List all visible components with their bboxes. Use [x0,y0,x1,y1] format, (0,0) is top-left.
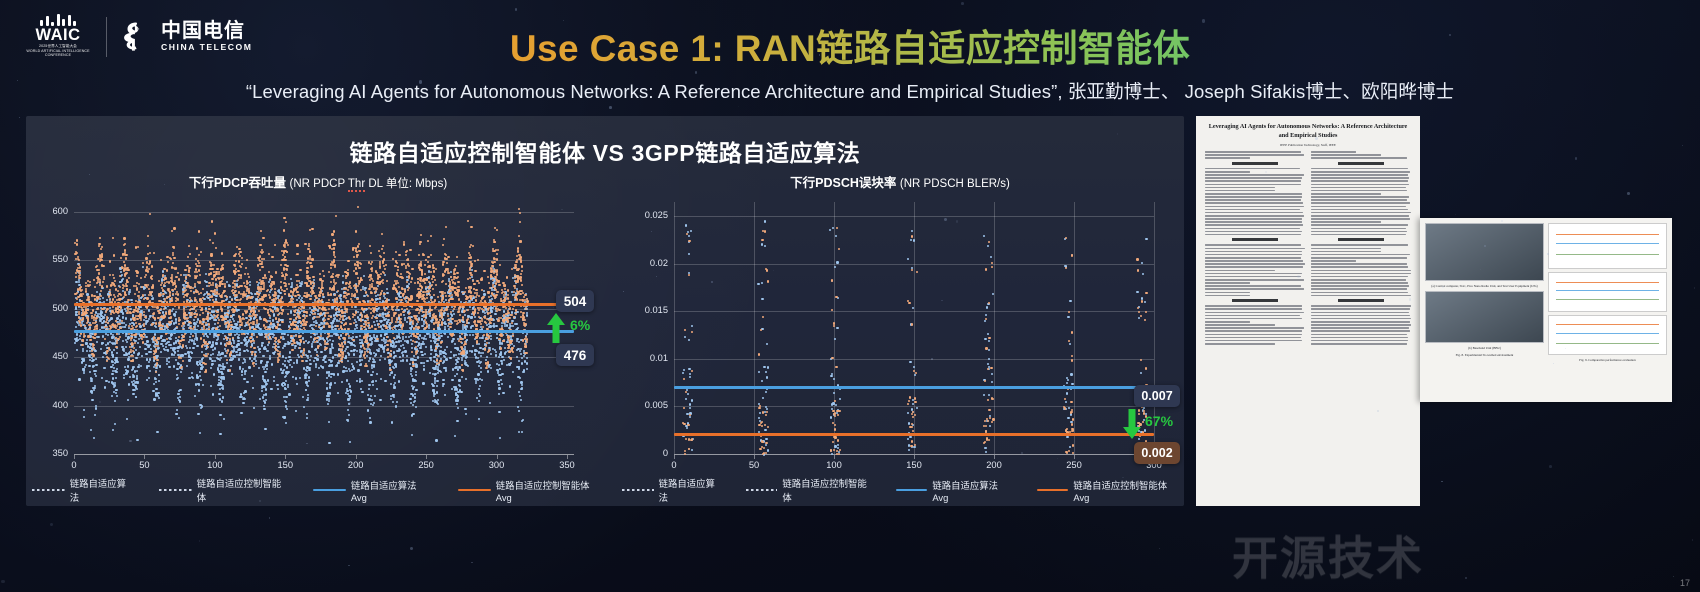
data-point [410,370,412,372]
data-point [306,413,308,415]
data-point [219,433,221,435]
data-point [428,327,430,329]
data-point [285,422,287,424]
data-point [357,311,359,313]
data-point [355,267,357,269]
data-point [296,299,298,301]
data-point [249,284,251,286]
data-point [296,383,298,385]
data-point [158,380,160,382]
data-point [310,355,312,357]
data-point [324,361,326,363]
data-point [475,299,477,301]
data-point [183,325,185,327]
data-point [199,314,201,316]
data-point [411,343,413,345]
data-point [96,341,98,343]
data-point [335,333,337,335]
data-point [199,404,201,406]
data-point [149,359,151,361]
data-point [452,368,454,370]
data-point [138,283,140,285]
data-point [308,376,310,378]
data-point [458,379,460,381]
data-point [193,313,195,315]
data-point [114,382,116,384]
data-point [282,355,284,357]
data-point [284,360,286,362]
data-point [434,382,436,384]
data-point [393,356,395,358]
data-point [329,350,331,352]
data-point [115,337,117,339]
data-point [184,280,186,282]
data-point [226,281,228,283]
data-point [263,394,265,396]
data-point [447,315,449,317]
data-point [234,265,236,267]
data-point [114,296,116,298]
data-point [304,243,306,245]
data-point [368,348,370,350]
data-point [363,326,365,328]
data-point [90,429,92,431]
data-point [413,355,415,357]
left-chart-heading-cn: 下行PDCP吞吐量 [189,176,286,190]
data-point [440,346,442,348]
data-point [483,334,485,336]
data-point [286,288,288,290]
data-point [221,400,223,402]
data-point [354,306,356,308]
data-point [394,363,396,365]
data-point [196,321,198,323]
data-point [277,343,279,345]
data-point [374,395,376,397]
data-point [520,279,522,281]
data-point [100,348,102,350]
data-point [369,417,371,419]
data-point [403,243,405,245]
data-point [361,391,363,393]
data-point [222,319,224,321]
data-point [334,294,336,296]
data-point [360,388,362,390]
data-point [320,288,322,290]
y-axis-tick-label: 600 [28,206,68,216]
data-point [286,408,288,410]
data-point [123,237,125,239]
data-point [134,293,136,295]
data-point [171,310,173,312]
data-point [488,296,490,298]
data-point [464,408,466,410]
data-point [270,388,272,390]
data-point [477,373,479,375]
data-point [135,349,137,351]
data-point [168,357,170,359]
data-point [445,353,447,355]
data-point [348,335,350,337]
data-point [302,337,304,339]
data-point [94,414,96,416]
data-point [253,334,255,336]
data-point [244,361,246,363]
data-point [105,311,107,313]
data-point [328,299,330,301]
data-point [395,251,397,253]
data-point [240,274,242,276]
data-point [359,359,361,361]
data-point [420,234,422,236]
data-point [333,230,335,232]
data-point [224,285,226,287]
data-point [470,316,472,318]
data-point [123,377,125,379]
data-point [296,359,298,361]
data-point [459,338,461,340]
data-point [444,394,446,396]
data-point [386,288,388,290]
data-point [436,385,438,387]
data-point [294,345,296,347]
data-point [281,275,283,277]
data-point [400,299,402,301]
data-point [268,253,270,255]
data-point [447,336,449,338]
data-point [171,299,173,301]
x-axis-tick [356,455,357,459]
data-point [130,351,132,353]
data-point [263,408,265,410]
data-point [521,387,523,389]
data-point [415,374,417,376]
data-point [503,359,505,361]
data-point [258,327,260,329]
data-point [520,273,522,275]
data-point [283,345,285,347]
data-point [217,384,219,386]
data-point [522,339,524,341]
data-point [115,377,117,379]
data-point [235,323,237,325]
data-point [414,396,416,398]
x-axis-tick [567,455,568,459]
data-point [501,373,503,375]
data-point [240,277,242,279]
data-point [432,384,434,386]
data-point [516,349,518,351]
data-point [220,353,222,355]
data-point [403,314,405,316]
data-point [218,319,220,321]
data-point [276,384,278,386]
data-point [177,350,179,352]
data-point [89,359,91,361]
data-point [91,392,93,394]
data-point [144,294,146,296]
data-point [128,277,130,279]
data-point [437,366,439,368]
data-point [412,394,414,396]
data-point [222,397,224,399]
data-point [83,409,85,411]
data-point [189,359,191,361]
data-point [355,336,357,338]
data-point [153,398,155,400]
data-point [351,369,353,371]
data-point [261,344,263,346]
data-point [408,283,410,285]
data-point [411,375,413,377]
data-point [177,377,179,379]
data-point [433,356,435,358]
data-point [158,294,160,296]
data-point [416,318,418,320]
data-point [346,379,348,381]
data-point [480,371,482,373]
data-point [383,293,385,295]
data-point [95,407,97,409]
data-point [329,339,331,341]
data-point [464,363,466,365]
data-point [112,377,114,379]
data-point [425,346,427,348]
data-point [170,344,172,346]
data-point [152,341,154,343]
data-point [372,371,374,373]
data-point [118,333,120,335]
data-point [414,359,416,361]
data-point [499,437,501,439]
data-point [197,413,199,415]
data-point [373,402,375,404]
data-point [126,341,128,343]
data-point [406,250,408,252]
data-point [289,359,291,361]
data-point [427,290,429,292]
data-point [371,325,373,327]
data-point [422,382,424,384]
data-point [397,269,399,271]
data-point [326,377,328,379]
data-point [423,368,425,370]
data-point [481,320,483,322]
data-point [430,345,432,347]
data-point [160,308,162,310]
data-point [273,313,275,315]
data-point [94,322,96,324]
data-point [454,347,456,349]
data-point [252,387,254,389]
data-point [288,283,290,285]
data-point [222,373,224,375]
data-point [488,342,490,344]
data-point [202,312,204,314]
data-point [348,414,350,416]
x-axis-tick-label: 100 [200,460,230,470]
data-point [379,359,381,361]
data-point [372,404,374,406]
data-point [518,391,520,393]
data-point [156,341,158,343]
data-point [243,378,245,380]
data-point [412,413,414,415]
data-point [152,390,154,392]
data-point [370,403,372,405]
data-point [522,312,524,314]
data-point [376,314,378,316]
data-point [305,360,307,362]
data-point [173,350,175,352]
data-point [450,351,452,353]
data-point [279,292,281,294]
x-axis-tick [285,455,286,459]
data-point [132,311,134,313]
data-point [502,392,504,394]
data-point [93,370,95,372]
data-point [327,403,329,405]
data-point [119,286,121,288]
data-point [426,297,428,299]
data-point [504,352,506,354]
data-point [515,261,517,263]
data-point [308,350,310,352]
data-point [128,291,130,293]
data-point [285,375,287,377]
data-point [389,369,391,371]
data-point [233,342,235,344]
data-point [173,227,175,229]
data-point [365,291,367,293]
data-point [356,350,358,352]
data-point [285,380,287,382]
data-point [307,385,309,387]
data-point [121,279,123,281]
data-point [521,431,523,433]
data-point [490,353,492,355]
data-point [239,367,241,369]
chart-card-title: 链路自适应控制智能体 VS 3GPP链路自适应算法 [26,134,1184,168]
y-axis-tick-label: 400 [28,400,68,410]
data-point [263,258,265,260]
data-point [238,348,240,350]
data-point [475,382,477,384]
data-point [106,360,108,362]
data-point [123,374,125,376]
data-point [442,263,444,265]
data-point [315,322,317,324]
data-point [96,265,98,267]
data-point [120,310,122,312]
data-point [172,262,174,264]
data-point [246,381,248,383]
data-point [455,359,457,361]
data-point [208,323,210,325]
data-point [495,351,497,353]
data-point [194,275,196,277]
data-point [465,413,467,415]
data-point [90,380,92,382]
data-point [308,367,310,369]
data-point [169,257,171,259]
data-point [490,338,492,340]
data-point [78,313,80,315]
data-point [178,323,180,325]
data-point [136,318,138,320]
data-point [111,354,113,356]
data-point [412,380,414,382]
x-axis-tick-label: 50 [129,460,159,470]
data-point [247,333,249,335]
data-point [283,290,285,292]
data-point [435,348,437,350]
data-point [146,359,148,361]
data-point [509,325,511,327]
data-point [442,280,444,282]
data-point [377,285,379,287]
data-point [350,287,352,289]
data-point [285,221,287,223]
data-point [194,395,196,397]
data-point [222,376,224,378]
data-point [456,272,458,274]
data-point [213,373,215,375]
data-point [217,367,219,369]
data-point [232,337,234,339]
data-point [302,396,304,398]
data-point [457,395,459,397]
data-point [450,313,452,315]
x-axis-tick [144,455,145,459]
data-point [443,312,445,314]
data-point [477,312,479,314]
data-point [311,345,313,347]
data-point [220,342,222,344]
data-point [203,298,205,300]
data-point [310,295,312,297]
data-point [380,334,382,336]
data-point [173,342,175,344]
data-point [430,349,432,351]
page-title: Use Case 1: RAN链路自适应控制智能体 [0,18,1700,72]
data-point [104,386,106,388]
data-point [221,252,223,254]
data-point [434,350,436,352]
data-point [252,323,254,325]
data-point [175,318,177,320]
data-point [361,359,363,361]
data-point [194,285,196,287]
data-point [360,289,362,291]
data-point [490,367,492,369]
data-point [479,395,481,397]
data-point [173,365,175,367]
data-point [498,374,500,376]
data-point [116,342,118,344]
data-point [77,339,79,341]
data-point [128,325,130,327]
data-point [328,442,330,444]
data-point [489,402,491,404]
data-point [456,373,458,375]
data-point [363,275,365,277]
data-point [93,389,95,391]
data-point [486,342,488,344]
data-point [427,240,429,242]
data-point [249,281,251,283]
data-point [415,371,417,373]
